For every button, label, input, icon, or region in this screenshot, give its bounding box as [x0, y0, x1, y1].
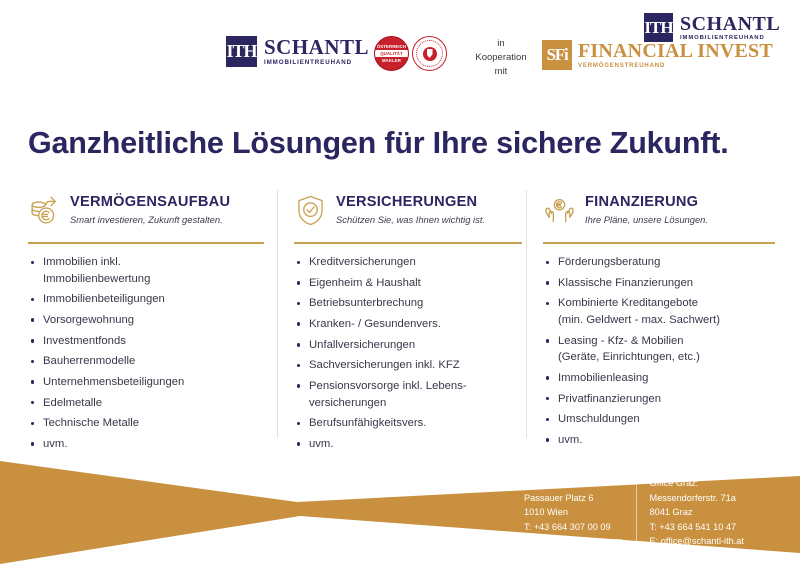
- list-item: Immobilienbeteiligungen: [28, 291, 263, 308]
- seal-band-text: QUALITÄT: [374, 50, 409, 56]
- office-phone[interactable]: T: +43 664 541 10 47: [650, 520, 744, 535]
- office-email[interactable]: E: office@schantl-ith.at: [650, 534, 744, 549]
- list-item: Förderungsberatung: [543, 254, 761, 271]
- column-title-group: VERMÖGENSAUFBAU Smart investieren, Zukun…: [70, 194, 230, 226]
- column-versicherungen: VERSICHERUNGEN Schützen Sie, was Ihnen w…: [277, 188, 526, 457]
- list-item: Kreditversicherungen: [294, 254, 512, 271]
- service-list: Kreditversicherungen Eigenheim & Haushal…: [294, 254, 512, 453]
- seal-inner-text: ÖSTERREICH QUALITÄT MAKLER: [377, 44, 406, 63]
- column-header: FINANZIERUNG Ihre Pläne, unsere Lösungen…: [543, 188, 761, 232]
- list-item: Kranken- / Gesundenvers.: [294, 316, 512, 333]
- shield-check-icon: [294, 194, 327, 227]
- list-item: Betriebsunterbrechung: [294, 295, 512, 312]
- column-title: FINANZIERUNG: [585, 194, 708, 211]
- logo-text-group: SCHANTL IMMOBILIENTREUHAND: [680, 14, 780, 42]
- column-title-group: FINANZIERUNG Ihre Pläne, unsere Lösungen…: [585, 194, 708, 226]
- service-list: Immobilien inkl. Immobilienbewertung Imm…: [28, 254, 263, 453]
- logo-company-name: SCHANTL: [264, 37, 369, 58]
- office-title: Office Graz:: [650, 476, 744, 491]
- logo-company-name: SCHANTL: [680, 14, 780, 34]
- list-item: Technische Metalle: [28, 415, 263, 432]
- list-item: Unfallversicherungen: [294, 337, 512, 354]
- sfi-company-name: FINANCIAL INVEST: [578, 41, 773, 61]
- list-item: (Geräte, Einrichtungen, etc.): [543, 349, 761, 366]
- logo-schantl-ith-left: ITH SCHANTL IMMOBILIENTREUHAND: [226, 36, 369, 67]
- list-item: Unternehmensbeteiligungen: [28, 374, 263, 391]
- seal-bottom-text: MAKLER: [382, 58, 401, 63]
- list-item: Eigenheim & Haushalt: [294, 275, 512, 292]
- office-email[interactable]: E: office@sfi-invest.com: [524, 534, 623, 549]
- ith-monogram-icon: ITH: [226, 36, 257, 67]
- column-header: VERSICHERUNGEN Schützen Sie, was Ihnen w…: [294, 188, 512, 232]
- contact-office-wien: Office Wien: Passauer Platz 6 1010 Wien …: [524, 476, 623, 549]
- seal-top-text: ÖSTERREICH: [377, 44, 406, 49]
- column-tagline: Smart investieren, Zukunft gestalten.: [70, 214, 230, 226]
- sfi-company-subtitle: VERMÖGENSTREUHAND: [578, 63, 773, 69]
- column-divider-rule: [543, 242, 775, 244]
- cooperation-note: in Kooperation mit: [470, 37, 532, 78]
- wko-seal-icon: [412, 36, 447, 71]
- qualitaetsmakler-seal-icon: ÖSTERREICH QUALITÄT MAKLER: [374, 36, 409, 71]
- list-item: Kombinierte Kreditangebote: [543, 295, 761, 312]
- seal-ring: [416, 40, 443, 67]
- column-vermoegensaufbau: VERMÖGENSAUFBAU Smart investieren, Zukun…: [28, 188, 277, 457]
- list-item: Umschuldungen: [543, 411, 761, 428]
- list-item: Leasing - Kfz- & Mobilien: [543, 333, 761, 350]
- column-title-group: VERSICHERUNGEN Schützen Sie, was Ihnen w…: [336, 194, 485, 226]
- list-item: Immobilien inkl.: [28, 254, 263, 271]
- list-item: Pensionsvorsorge inkl. Lebens-: [294, 378, 512, 395]
- column-header: VERMÖGENSAUFBAU Smart investieren, Zukun…: [28, 188, 263, 232]
- list-item: Privatfinanzierungen: [543, 391, 761, 408]
- list-item: Klassische Finanzierungen: [543, 275, 761, 292]
- column-finanzierung: FINANZIERUNG Ihre Pläne, unsere Lösungen…: [526, 188, 775, 457]
- sfi-monogram-icon: SFi: [542, 40, 572, 70]
- column-title: VERMÖGENSAUFBAU: [70, 194, 230, 211]
- list-item: Investmentfonds: [28, 333, 263, 350]
- service-columns: VERMÖGENSAUFBAU Smart investieren, Zukun…: [28, 188, 776, 457]
- hands-holding-euro-icon: [543, 194, 576, 227]
- office-city: 1010 Wien: [524, 505, 623, 520]
- cooperation-line-3: mit: [470, 65, 532, 79]
- list-item: Edelmetalle: [28, 395, 263, 412]
- header-logo-bar: ITH SCHANTL IMMOBILIENTREUHAND ÖSTERREIC…: [0, 0, 800, 108]
- list-item: Vorsorgewohnung: [28, 312, 263, 329]
- office-city: 8041 Graz: [650, 505, 744, 520]
- service-list: Förderungsberatung Klassische Finanzieru…: [543, 254, 761, 449]
- office-street: Passauer Platz 6: [524, 491, 623, 506]
- office-title: Office Wien:: [524, 476, 623, 491]
- cooperation-line-1: in: [470, 37, 532, 51]
- logo-company-subtitle: IMMOBILIENTREUHAND: [264, 60, 369, 66]
- cooperation-line-2: Kooperation: [470, 51, 532, 65]
- logo-sfi-financial-invest: SFi FINANCIAL INVEST VERMÖGENSTREUHAND: [542, 40, 773, 70]
- list-item: Immobilienleasing: [543, 370, 761, 387]
- logo-text-group: SCHANTL IMMOBILIENTREUHAND: [264, 37, 369, 66]
- seal-core: [423, 47, 437, 61]
- ith-monogram-icon: ITH: [644, 13, 673, 42]
- column-divider-rule: [294, 242, 522, 244]
- column-tagline: Schützen Sie, was Ihnen wichtig ist.: [336, 214, 485, 226]
- logo-company-subtitle: IMMOBILIENTREUHAND: [680, 36, 780, 42]
- coins-euro-growth-icon: [28, 194, 61, 227]
- list-item: versicherungen: [294, 395, 512, 412]
- column-title: VERSICHERUNGEN: [336, 194, 485, 211]
- office-phone[interactable]: T: +43 664 307 00 09: [524, 520, 623, 535]
- logo-schantl-ith-right: ITH SCHANTL IMMOBILIENTREUHAND: [644, 13, 780, 42]
- page-headline: Ganzheitliche Lösungen für Ihre sichere …: [28, 126, 728, 161]
- list-item: Berufsunfähigkeitsvers.: [294, 415, 512, 432]
- office-street: Messendorferstr. 71a: [650, 491, 744, 506]
- list-item: Immobilienbewertung: [28, 271, 263, 288]
- list-item: (min. Geldwert - max. Sachwert): [543, 312, 761, 329]
- list-item: Bauherrenmodelle: [28, 353, 263, 370]
- footer-contact-group: Office Wien: Passauer Platz 6 1010 Wien …: [524, 476, 744, 549]
- column-divider-rule: [28, 242, 264, 244]
- contact-office-graz: Office Graz: Messendorferstr. 71a 8041 G…: [636, 476, 744, 549]
- list-item: Sachversicherungen inkl. KFZ: [294, 357, 512, 374]
- sfi-text-group: FINANCIAL INVEST VERMÖGENSTREUHAND: [578, 41, 773, 69]
- column-tagline: Ihre Pläne, unsere Lösungen.: [585, 214, 708, 226]
